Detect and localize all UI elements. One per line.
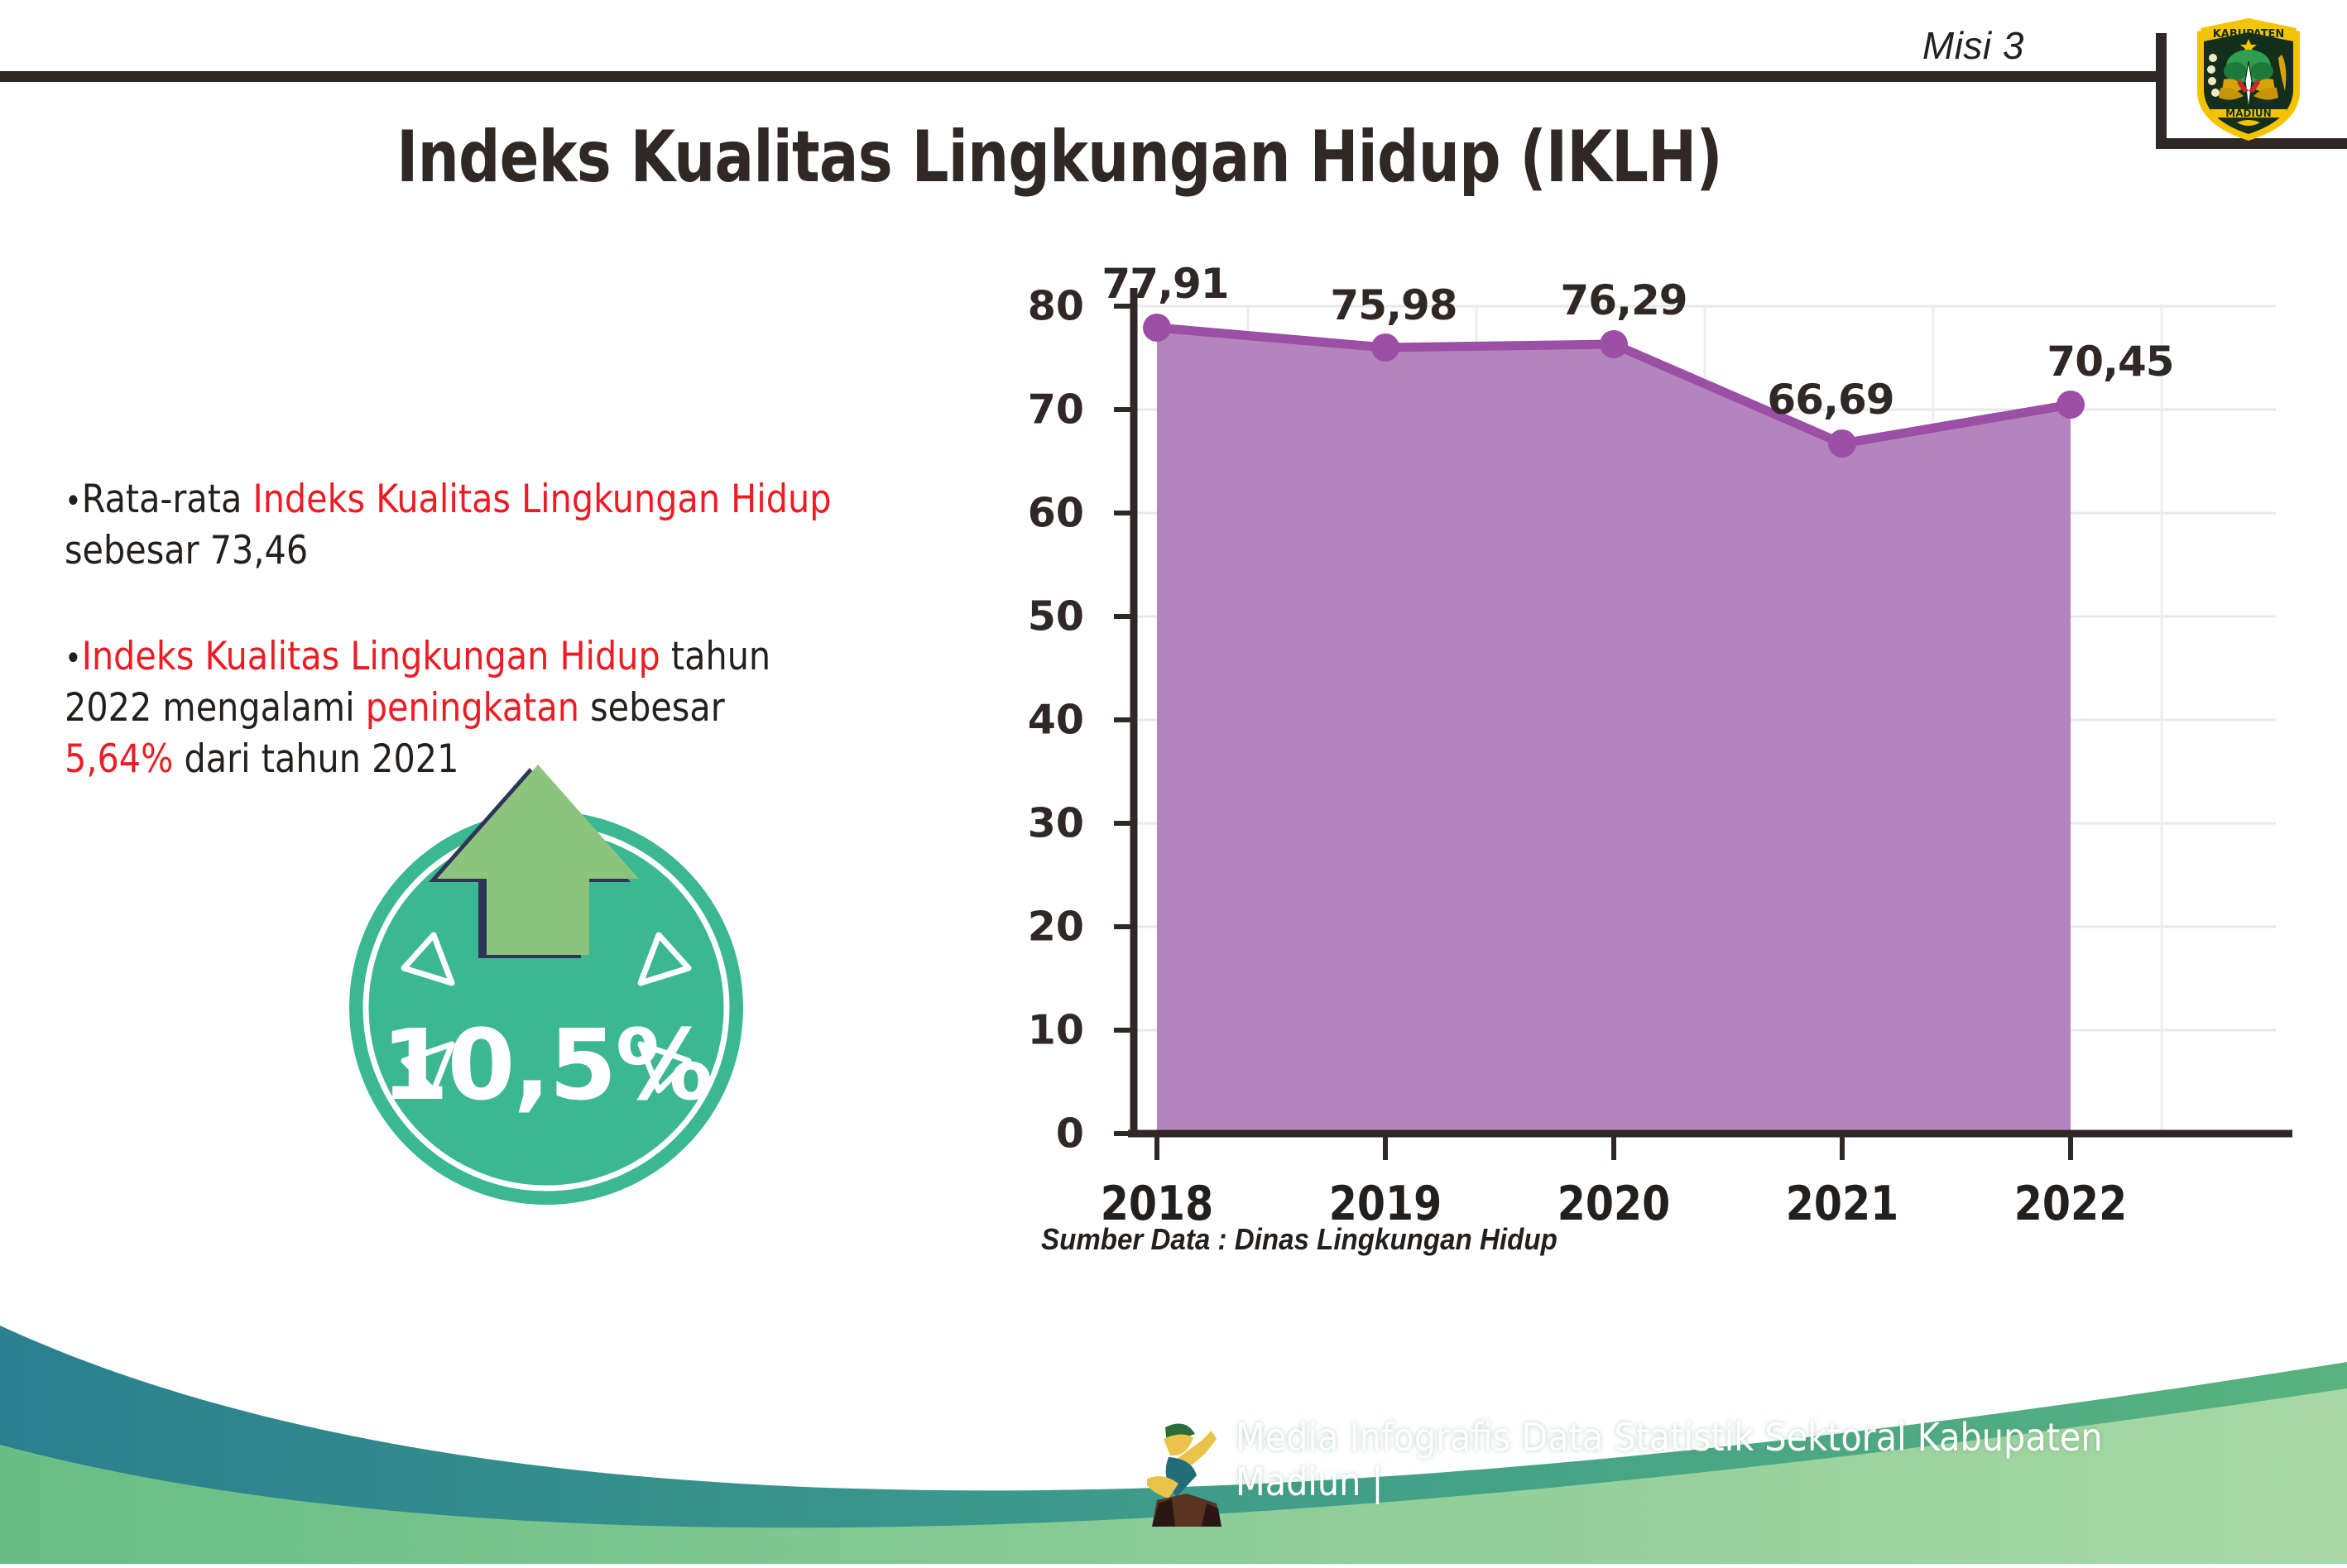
data-label-2022: 70,45: [1994, 338, 2226, 386]
x-ticks: [1157, 1134, 2071, 1160]
bullet-1-plain-2: sebesar 73,46: [65, 528, 308, 573]
x-tick-label-2022: 2022: [1985, 1177, 2156, 1231]
footer-caption: Media Infografis Data Statistik Sektoral…: [1236, 1415, 2236, 1504]
bullet-point-average: •Rata-rata Indeks Kualitas Lingkungan Hi…: [65, 474, 837, 577]
bullet-2-highlight-3: 5,64%: [65, 736, 173, 782]
bullet-2-plain-2: sebesar: [579, 685, 725, 731]
kabupaten-madiun-emblem-icon: KABUPATEN MADIUN: [2186, 12, 2311, 146]
infografis-dancer-logo-icon: [1140, 1421, 1231, 1532]
y-tick-label-50: 50: [985, 593, 1084, 640]
badge-value-text: 10,5%: [331, 1008, 761, 1122]
svg-text:KABUPATEN: KABUPATEN: [2213, 28, 2285, 41]
page-title: Indeks Kualitas Lingkungan Hidup (IKLH): [190, 116, 1927, 199]
bullet-2-highlight-2: peningkatan: [366, 685, 579, 731]
x-tick-label-2021: 2021: [1757, 1177, 1927, 1231]
bullet-marker: •: [65, 482, 82, 520]
y-tick-label-40: 40: [985, 697, 1084, 744]
increase-badge: 10,5%: [331, 760, 761, 1206]
bullet-1-plain-1: Rata-rata: [82, 477, 253, 522]
y-tick-label-10: 10: [985, 1007, 1084, 1054]
bullet-2-highlight-1: Indeks Kualitas Lingkungan Hidup: [82, 634, 660, 679]
bullet-1-highlight-1: Indeks Kualitas Lingkungan Hidup: [252, 477, 831, 522]
data-label-2021: 66,69: [1715, 376, 1946, 424]
y-tick-label-70: 70: [985, 386, 1084, 434]
iklh-area-chart: 0 10 20 30 40 50 60 70 80 77,91 75,98 76…: [952, 273, 2292, 1200]
header-divider-rule: [0, 71, 2156, 82]
data-label-2018: 77,91: [1049, 260, 1281, 308]
y-tick-label-0: 0: [985, 1110, 1084, 1158]
y-tick-label-30: 30: [985, 800, 1084, 847]
bullet-marker: •: [65, 640, 82, 678]
source-note: Sumber Data : Dinas Lingkungan Hidup: [1041, 1222, 1557, 1257]
y-tick-label-60: 60: [985, 490, 1084, 537]
data-label-2019: 75,98: [1278, 281, 1509, 329]
y-tick-label-20: 20: [985, 904, 1084, 951]
area-fill: [1157, 328, 2071, 1134]
corner-bracket-vertical: [2156, 33, 2167, 149]
chart-svg: [952, 273, 2292, 1200]
svg-text:MADIUN: MADIUN: [2225, 108, 2271, 119]
mission-label: Misi 3: [1922, 23, 2024, 68]
data-label-2020: 76,29: [1508, 276, 1740, 324]
